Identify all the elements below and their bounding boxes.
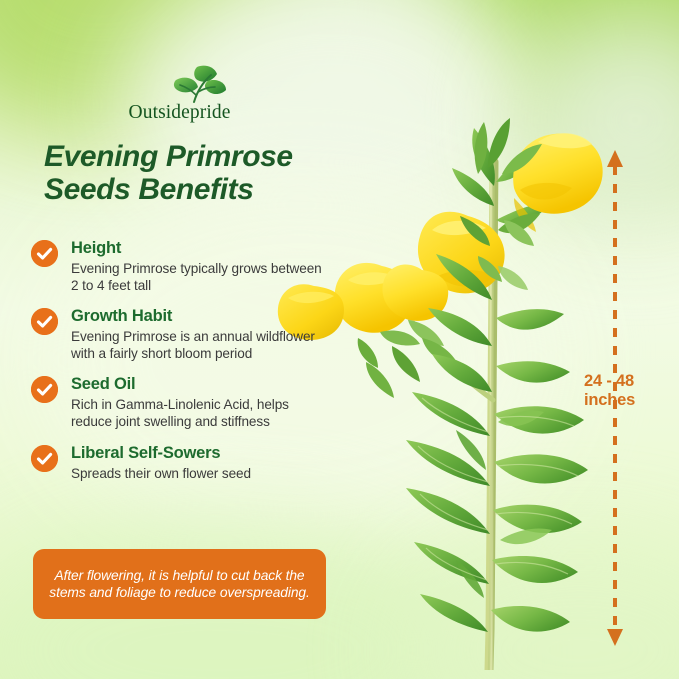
brand-logo: Outsidepride <box>112 62 247 128</box>
measurement-value: 24 - 48 <box>584 372 634 390</box>
benefit-item-seed-oil: Seed Oil Rich in Gamma-Linolenic Acid, h… <box>31 374 331 430</box>
benefit-item-liberal-self-sowers: Liberal Self-Sowers Spreads their own fl… <box>31 443 331 483</box>
check-circle-icon <box>31 445 58 472</box>
page-title-line2: Seeds Benefits <box>44 173 344 206</box>
page-title: Evening Primrose Seeds Benefits <box>44 140 344 206</box>
check-circle-icon <box>31 308 58 335</box>
benefit-description: Evening Primrose typically grows between… <box>71 261 331 294</box>
check-circle-icon <box>31 240 58 267</box>
measurement-unit: inches <box>584 391 676 410</box>
benefit-title: Height <box>71 238 331 259</box>
infographic-page: Outsidepride Evening Primrose Seeds Bene… <box>0 0 679 679</box>
brand-name: Outsidepride <box>112 102 247 124</box>
leaf-sprig-icon <box>164 62 228 106</box>
benefits-list: Height Evening Primrose typically grows … <box>31 238 331 482</box>
check-circle-icon <box>31 376 58 403</box>
callout-box: After flowering, it is helpful to cut ba… <box>33 549 326 619</box>
page-title-line1: Evening Primrose <box>44 140 293 173</box>
benefit-title: Liberal Self-Sowers <box>71 443 331 464</box>
benefit-description: Evening Primrose is an annual wildflower… <box>71 329 331 362</box>
measurement-label: 24 - 48 inches <box>584 372 676 410</box>
benefit-description: Spreads their own flower seed <box>71 466 331 483</box>
benefit-item-height: Height Evening Primrose typically grows … <box>31 238 331 294</box>
benefit-title: Seed Oil <box>71 374 331 395</box>
benefit-title: Growth Habit <box>71 306 331 327</box>
benefit-item-growth-habit: Growth Habit Evening Primrose is an annu… <box>31 306 331 362</box>
benefit-description: Rich in Gamma-Linolenic Acid, helps redu… <box>71 397 331 430</box>
callout-text: After flowering, it is helpful to cut ba… <box>49 567 310 602</box>
